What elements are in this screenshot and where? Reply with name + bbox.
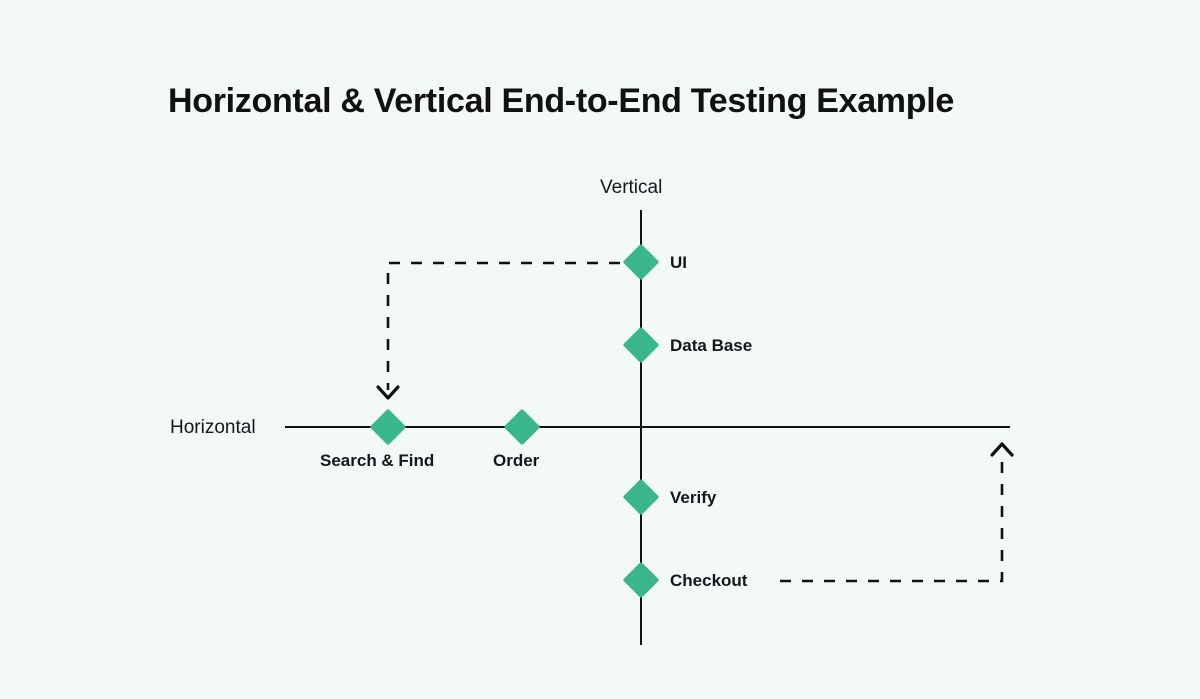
node-label-ui: UI — [670, 253, 687, 273]
node-diamond-search-find[interactable] — [370, 409, 407, 446]
node-label-checkout: Checkout — [670, 571, 747, 591]
connector-checkout-to-horizontal-axis — [780, 452, 1002, 581]
node-label-search-find: Search & Find — [320, 451, 434, 471]
node-diamond-order[interactable] — [504, 409, 541, 446]
node-label-order: Order — [493, 451, 539, 471]
diagram-canvas — [0, 0, 1200, 699]
connector-ui-to-search-find — [388, 263, 620, 390]
node-diamond-checkout[interactable] — [623, 562, 660, 599]
axis-label-horizontal: Horizontal — [170, 417, 256, 439]
arrowhead-up-icon — [992, 444, 1012, 455]
node-diamond-ui[interactable] — [623, 244, 660, 281]
axis-label-vertical: Vertical — [600, 177, 662, 199]
node-diamond-verify[interactable] — [623, 479, 660, 516]
node-label-verify: Verify — [670, 488, 716, 508]
node-label-database: Data Base — [670, 336, 752, 356]
diagram-root: Horizontal & Vertical End-to-End Testing… — [0, 0, 1200, 699]
node-diamond-database[interactable] — [623, 327, 660, 364]
